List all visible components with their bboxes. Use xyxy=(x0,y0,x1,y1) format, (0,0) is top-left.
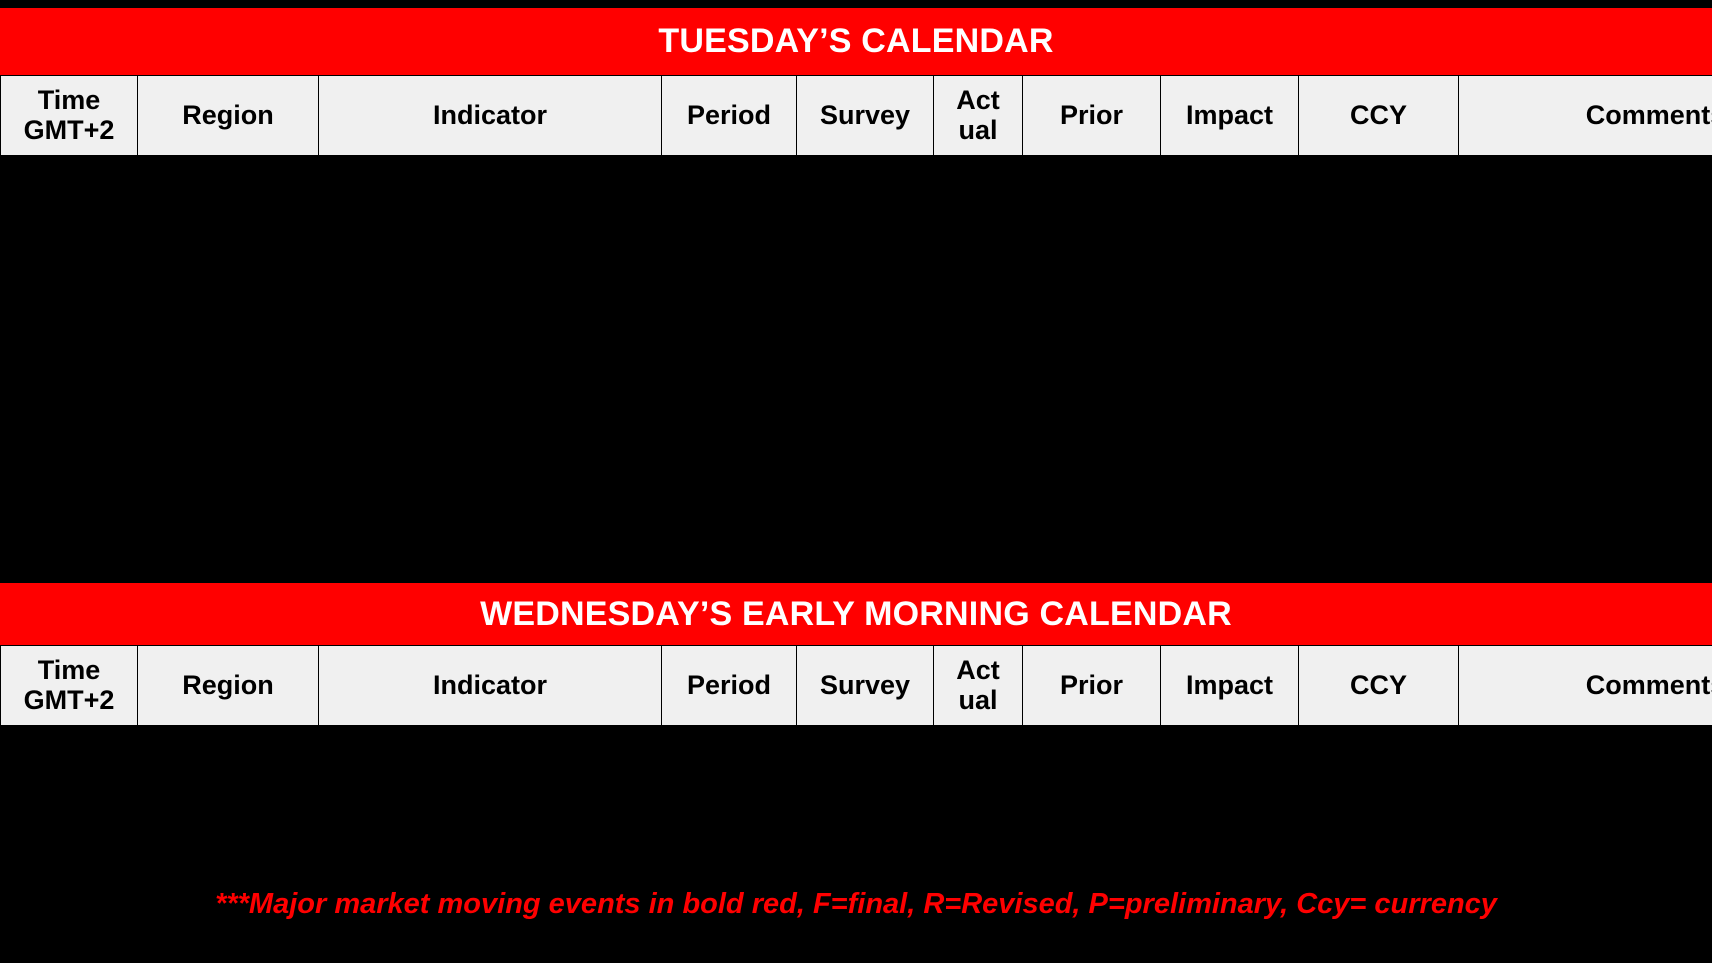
column-header-ccy: CCY xyxy=(1299,76,1459,156)
table-header-row-tuesday: Time GMT+2 Region Indicator Period Surve… xyxy=(1,76,1712,156)
column-header-time-line1: Time xyxy=(38,85,101,115)
column-header-time: Time GMT+2 xyxy=(1,76,138,156)
table-body-empty-row xyxy=(1,726,1712,807)
column-header-time-line2: GMT+2 xyxy=(24,115,115,145)
table-header-row-wednesday: Time GMT+2 Region Indicator Period Surve… xyxy=(1,646,1712,726)
column-header-region: Region xyxy=(138,646,319,726)
column-header-prior: Prior xyxy=(1023,646,1161,726)
banner-wednesday: WEDNESDAY’S EARLY MORNING CALENDAR xyxy=(0,583,1712,645)
column-header-region: Region xyxy=(138,76,319,156)
footer-legend-note: ***Major market moving events in bold re… xyxy=(0,888,1712,921)
column-header-survey: Survey xyxy=(797,76,934,156)
column-header-time-line1: Time xyxy=(38,655,101,685)
column-header-indicator: Indicator xyxy=(319,646,662,726)
column-header-actual-line1: Act xyxy=(956,85,1000,115)
banner-title-tuesday: TUESDAY’S CALENDAR xyxy=(658,22,1053,61)
column-header-indicator: Indicator xyxy=(319,76,662,156)
table-body-wednesday xyxy=(1,726,1712,807)
column-header-actual: Act ual xyxy=(934,646,1023,726)
column-header-ccy: CCY xyxy=(1299,646,1459,726)
column-header-time: Time GMT+2 xyxy=(1,646,138,726)
column-header-prior: Prior xyxy=(1023,76,1161,156)
column-header-actual-line2: ual xyxy=(958,115,997,145)
column-header-impact: Impact xyxy=(1161,646,1299,726)
empty-body-area-wednesday xyxy=(1,726,1712,807)
column-header-actual-line2: ual xyxy=(958,685,997,715)
calendar-page: TUESDAY’S CALENDAR Time GMT+2 Region Ind… xyxy=(0,0,1712,963)
calendar-section-tuesday: TUESDAY’S CALENDAR Time GMT+2 Region Ind… xyxy=(0,8,1712,505)
table-body-empty-row xyxy=(1,156,1712,506)
column-header-impact: Impact xyxy=(1161,76,1299,156)
empty-body-area-tuesday xyxy=(1,156,1712,506)
banner-title-wednesday: WEDNESDAY’S EARLY MORNING CALENDAR xyxy=(480,595,1232,634)
column-header-period: Period xyxy=(662,76,797,156)
column-header-survey: Survey xyxy=(797,646,934,726)
calendar-table-wednesday: Time GMT+2 Region Indicator Period Surve… xyxy=(0,645,1712,806)
column-header-comments: Comments xyxy=(1459,646,1712,726)
column-header-time-line2: GMT+2 xyxy=(24,685,115,715)
banner-tuesday: TUESDAY’S CALENDAR xyxy=(0,8,1712,75)
column-header-actual-line1: Act xyxy=(956,655,1000,685)
calendar-table-tuesday: Time GMT+2 Region Indicator Period Surve… xyxy=(0,75,1712,505)
table-body-tuesday xyxy=(1,156,1712,506)
column-header-period: Period xyxy=(662,646,797,726)
column-header-actual: Act ual xyxy=(934,76,1023,156)
calendar-section-wednesday: WEDNESDAY’S EARLY MORNING CALENDAR Time … xyxy=(0,583,1712,806)
column-header-comments: Comments xyxy=(1459,76,1712,156)
